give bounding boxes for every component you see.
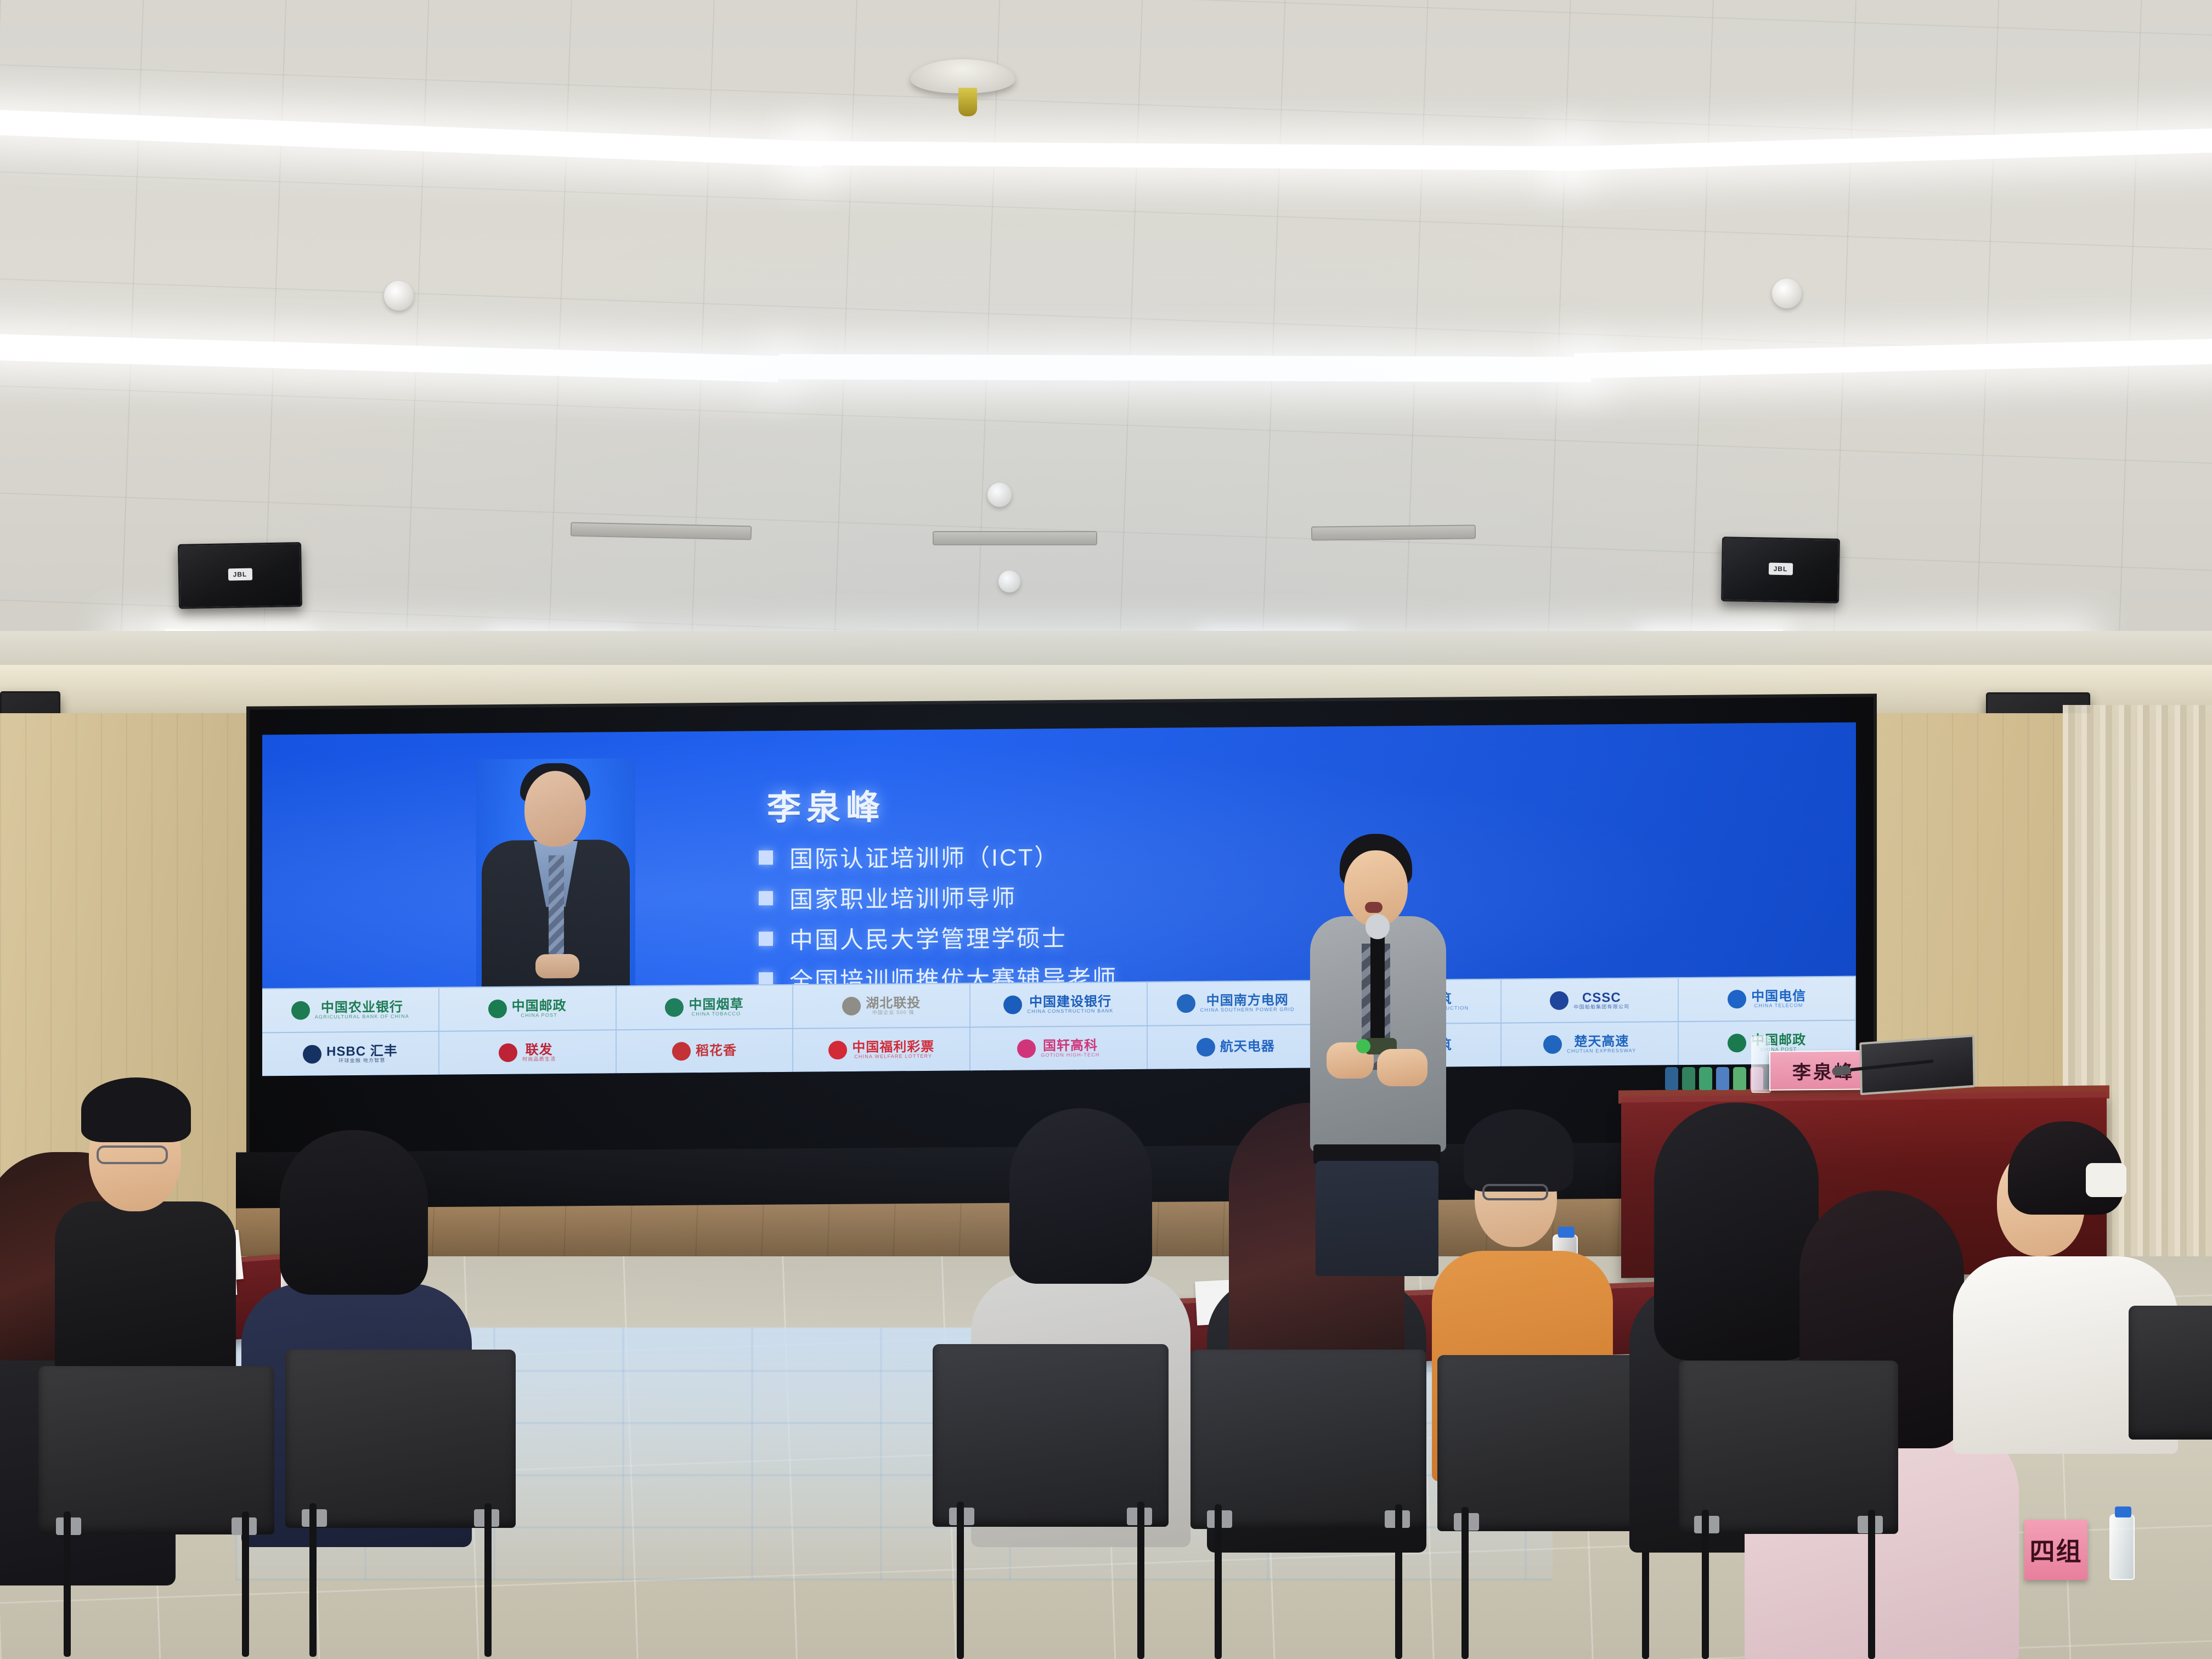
logo-name-en: AGRICULTURAL BANK OF CHINA [315, 1014, 409, 1020]
logo-name-en: 中国船舶集团有限公司 [1573, 1005, 1629, 1010]
logo-name-cn: 中国福利彩票 [852, 1040, 934, 1054]
client-logo: 稻花香 [617, 1029, 794, 1074]
handheld-microphone-icon [1370, 933, 1385, 1048]
logo-text: 楚天高速CHUTIAN EXPRESSWAY [1567, 1034, 1636, 1054]
chair[interactable] [933, 1344, 1169, 1659]
chair-back [1190, 1350, 1426, 1529]
chair-back [285, 1350, 516, 1528]
portrait-hands [535, 954, 579, 979]
client-logo: 楚天高速CHUTIAN EXPRESSWAY [1502, 1022, 1679, 1066]
logo-text: 湖北联投中国企业 500 强 [866, 996, 921, 1015]
logo-name-en: GOTION HIGH-TECH [1041, 1052, 1099, 1058]
chair-back [1679, 1361, 1898, 1534]
logo-text: 中国电信CHINA TELECOM [1751, 989, 1806, 1008]
client-logo: 中国烟草CHINA TOBACCO [617, 985, 794, 1030]
logo-mark-icon [1017, 1039, 1036, 1058]
ceiling-speaker-right: JBL [1721, 537, 1840, 603]
logo-name-en: CHINA TELECOM [1754, 1003, 1803, 1008]
logo-name-cn: 中国建设银行 [1029, 995, 1111, 1009]
logo-text: 中国农业银行AGRICULTURAL BANK OF CHINA [315, 1000, 409, 1020]
logo-text: HSBC 汇丰环球金融 地方智慧 [326, 1044, 398, 1064]
logo-mark-icon [1728, 990, 1746, 1008]
logo-text: 国轩高科GOTION HIGH-TECH [1041, 1039, 1099, 1058]
ceiling [0, 0, 2212, 708]
logo-name-en: 环球金融 地方智慧 [338, 1058, 385, 1064]
logo-name-cn: 联发 [526, 1043, 553, 1057]
logo-name-cn: 中国邮政 [512, 999, 567, 1013]
slide-title: 李泉峰 [767, 779, 885, 830]
jbl-logo: JBL [228, 568, 252, 580]
logo-name-cn: 稻花香 [696, 1044, 737, 1058]
client-logo: 中国电信CHINA TELECOM [1679, 977, 1856, 1022]
bullet-text: 国家职业培训师导师 [789, 879, 1017, 915]
client-logo: CSSC中国船舶集团有限公司 [1502, 978, 1679, 1023]
air-vent [933, 531, 1097, 545]
ceiling-light-strip [779, 354, 1591, 382]
logo-mark-icon [1003, 996, 1022, 1014]
chair-leg [1702, 1510, 1709, 1659]
bottle [1699, 1067, 1712, 1090]
chair[interactable] [285, 1350, 516, 1657]
client-logo: 中国建设银行CHINA CONSTRUCTION BANK [970, 983, 1148, 1027]
logo-name-cn: 楚天高速 [1574, 1035, 1629, 1049]
chair-leg [1462, 1507, 1469, 1659]
logo-mark-icon [672, 1042, 691, 1060]
person-hair [81, 1077, 191, 1142]
ceiling-downlight [988, 483, 1012, 507]
client-logo: 中国福利彩票CHINA WELFARE LOTTERY [793, 1028, 970, 1072]
eyeglasses-icon [97, 1145, 168, 1164]
logo-text: 中国建设银行CHINA CONSTRUCTION BANK [1027, 995, 1113, 1014]
logo-mark-icon [303, 1045, 321, 1064]
client-logo: 中国南方电网CHINA SOUTHERN POWER GRID [1148, 981, 1325, 1025]
logo-mark-icon [291, 1001, 310, 1020]
chair-back [933, 1344, 1169, 1527]
logo-name-en: 时尚品质生活 [522, 1057, 556, 1062]
hair-clip-icon [2086, 1163, 2126, 1197]
logo-mark-icon [842, 997, 861, 1015]
jbl-logo: JBL [1768, 562, 1792, 575]
logo-name-cn: 中国南方电网 [1206, 993, 1289, 1007]
logo-text: 中国烟草CHINA TOBACCO [689, 997, 743, 1017]
logo-text: 航天电器 [1220, 1040, 1275, 1054]
chair-back [2129, 1306, 2212, 1440]
bullet-square-icon [759, 891, 773, 905]
eyeglasses-icon [1482, 1184, 1548, 1200]
chair-leg [957, 1502, 964, 1659]
chair-leg [1215, 1504, 1222, 1659]
ceiling-downlight [1772, 279, 1802, 308]
logo-name-en: CHINA WELFARE LOTTERY [854, 1054, 932, 1060]
chair-leg [484, 1503, 492, 1657]
bottle [1716, 1067, 1729, 1090]
logo-name-cn: 中国农业银行 [321, 1000, 403, 1014]
chair-leg [1868, 1510, 1875, 1659]
logo-mark-icon [665, 998, 684, 1017]
logo-name-cn: 航天电器 [1220, 1040, 1275, 1054]
bottle [1733, 1067, 1746, 1090]
client-logo-wall: 中国农业银行AGRICULTURAL BANK OF CHINA中国邮政CHIN… [262, 976, 1856, 1076]
logo-text: 中国福利彩票CHINA WELFARE LOTTERY [852, 1040, 934, 1059]
list-item: 国家职业培训师导师 [759, 873, 1801, 915]
presenter-right-hand [1377, 1049, 1427, 1086]
bullet-square-icon [759, 850, 773, 865]
client-logo: 联发时尚品质生活 [439, 1030, 617, 1075]
logo-mark-icon [1543, 1035, 1562, 1054]
bottle [1665, 1067, 1678, 1090]
logo-name-en: CHUTIAN EXPRESSWAY [1567, 1048, 1636, 1054]
person-hair [1009, 1108, 1152, 1284]
led-screen[interactable]: 李泉峰 国际认证培训师（ICT） 国家职业培训师导师 中国人民大学管理学硕士 全… [262, 723, 1856, 1076]
client-logo: 国轩高科GOTION HIGH-TECH [970, 1026, 1148, 1071]
chair-back [38, 1366, 274, 1534]
logo-name-cn: HSBC 汇丰 [326, 1044, 398, 1058]
table-tent-text: 四组 [2030, 1532, 2083, 1568]
client-logo: HSBC 汇丰环球金融 地方智慧 [262, 1032, 439, 1076]
logo-name-cn: 中国烟草 [689, 997, 743, 1012]
list-item: 中国人民大学管理学硕士 [759, 913, 1801, 956]
bullet-text: 中国人民大学管理学硕士 [789, 919, 1067, 956]
conference-room-scene: JBL JBL JBL 李泉峰 国际认证培训师（ICT） [0, 0, 2212, 1659]
table-tent-card[interactable]: 四组 [2024, 1520, 2087, 1580]
logo-name-en: CHINA TOBACCO [692, 1011, 741, 1017]
logo-text: 稻花香 [696, 1044, 737, 1058]
logo-name-cn: CSSC [1582, 991, 1621, 1005]
logo-mark-icon [1197, 1038, 1215, 1057]
ceiling-downlight [384, 281, 414, 311]
presenter-mouth [1365, 902, 1383, 913]
person-left-man-glasses [55, 1064, 241, 1372]
logo-mark-icon [499, 1043, 517, 1062]
logo-text: CSSC中国船舶集团有限公司 [1573, 991, 1629, 1010]
logo-name-en: 中国企业 500 强 [872, 1010, 915, 1015]
logo-name-en: CHINA CONSTRUCTION BANK [1027, 1008, 1113, 1014]
chair-leg [1137, 1502, 1144, 1659]
air-vent [1311, 524, 1476, 540]
logo-mark-icon [1550, 991, 1568, 1010]
logo-mark-icon [488, 1000, 507, 1018]
client-logo: 中国农业银行AGRICULTURAL BANK OF CHINA [262, 988, 439, 1032]
person-hair [280, 1130, 428, 1295]
portrait-tie [549, 855, 564, 957]
logo-name-en: CHINA SOUTHERN POWER GRID [1200, 1007, 1295, 1013]
logo-text: 中国邮政CHINA POST [512, 999, 567, 1018]
presenter-trousers [1316, 1161, 1438, 1276]
chair-leg [64, 1511, 71, 1657]
presenter [1300, 834, 1454, 1273]
logo-text: 中国南方电网CHINA SOUTHERN POWER GRID [1200, 993, 1295, 1013]
person-hair [1464, 1109, 1573, 1192]
chair[interactable] [1679, 1361, 1898, 1659]
chair[interactable] [1190, 1350, 1426, 1659]
logo-name-cn: 湖北联投 [866, 996, 921, 1011]
client-logo: 航天电器 [1148, 1025, 1325, 1069]
client-logo: 湖北联投中国企业 500 强 [793, 984, 970, 1028]
chair-leg [242, 1511, 249, 1657]
chair[interactable] [2129, 1306, 2212, 1536]
chair-leg [309, 1503, 317, 1657]
logo-name-cn: 中国电信 [1751, 989, 1806, 1003]
bullet-text: 国际认证培训师（ICT） [789, 838, 1059, 874]
logo-mark-icon [828, 1041, 847, 1059]
chair[interactable] [38, 1366, 274, 1657]
logo-text: 联发时尚品质生活 [522, 1043, 556, 1062]
logo-name-en: CHINA POST [521, 1013, 557, 1018]
logo-name-cn: 国轩高科 [1043, 1039, 1098, 1053]
portrait-face [524, 771, 586, 847]
client-logo: 中国邮政CHINA POST [439, 986, 617, 1031]
bullet-square-icon [759, 932, 773, 946]
bottle [1682, 1067, 1695, 1090]
water-bottle [1751, 1036, 1771, 1093]
logo-mark-icon [1728, 1034, 1746, 1052]
logo-mark-icon [1177, 994, 1195, 1013]
ceiling-speaker-left: JBL [178, 542, 302, 609]
chair-leg [1395, 1504, 1402, 1659]
person-torso [55, 1201, 236, 1383]
ceiling-downlight [998, 571, 1020, 592]
